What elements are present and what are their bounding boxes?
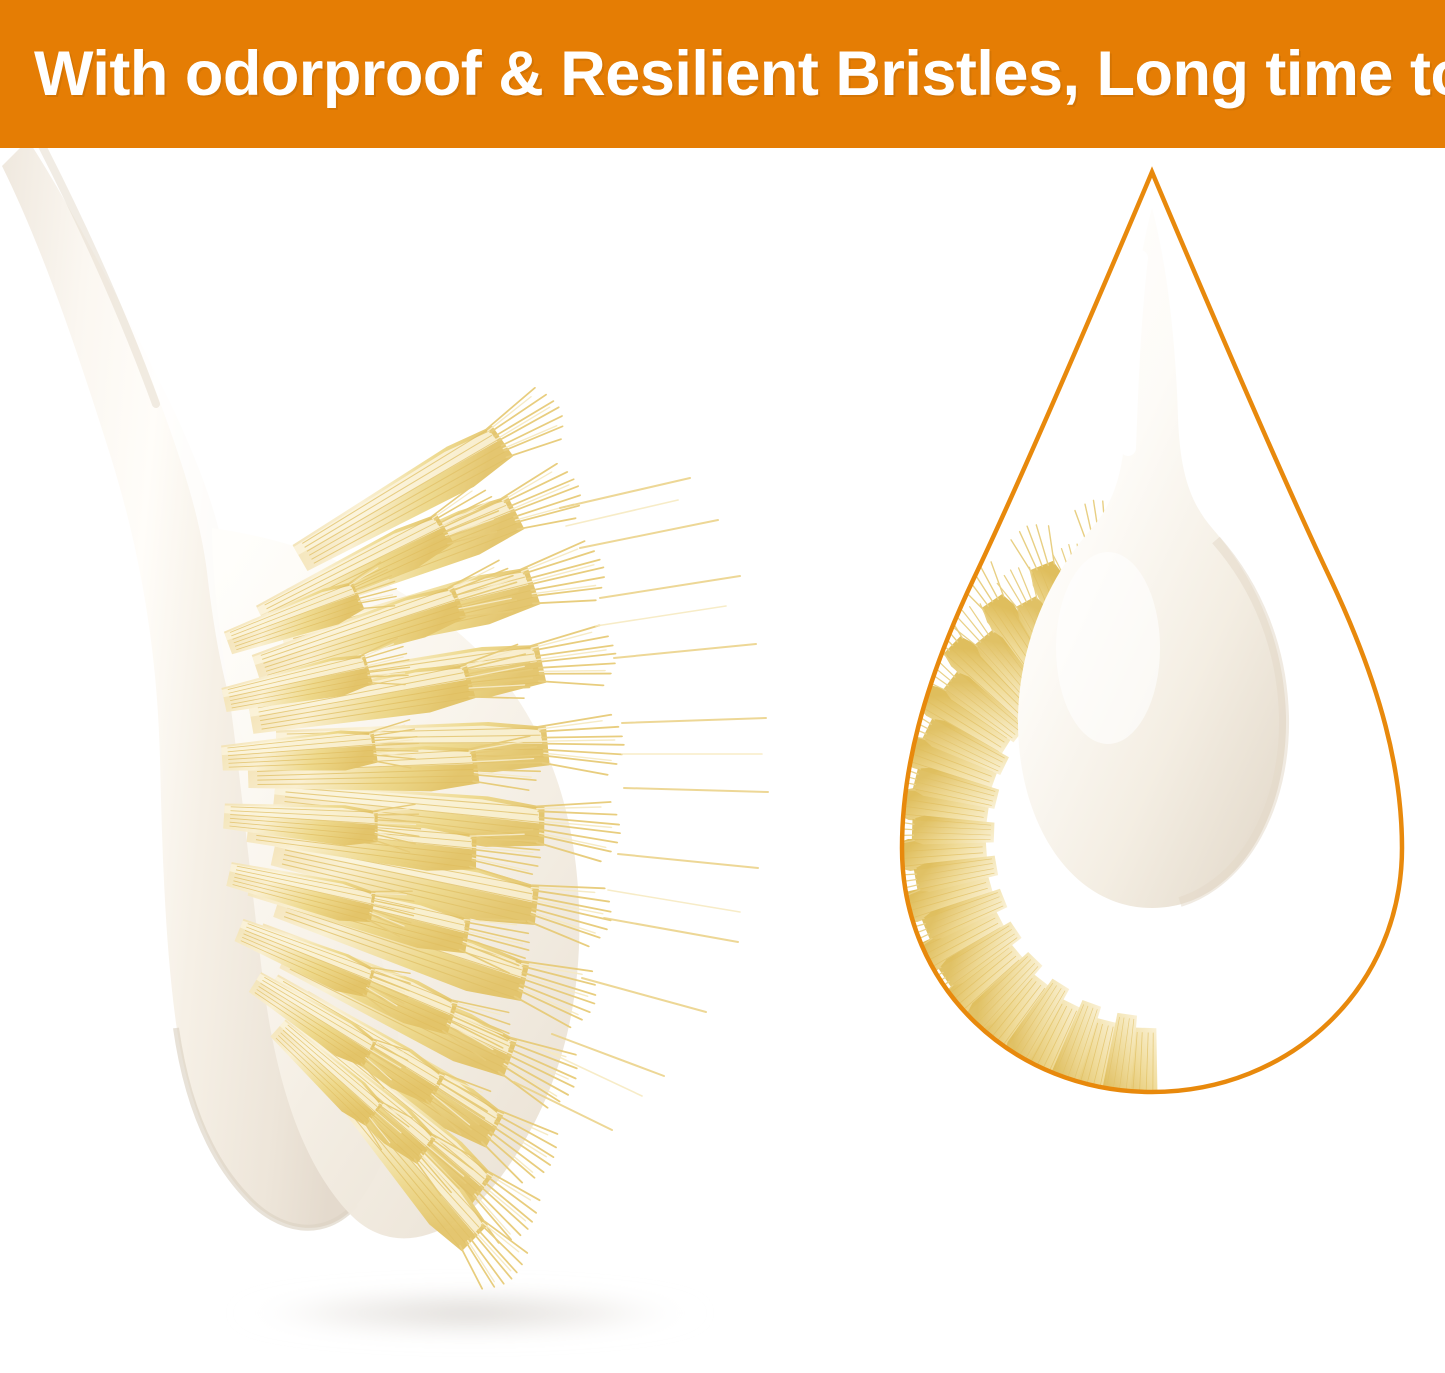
headline-text: With odorproof & Resilient Bristles, Lon… [34, 43, 1445, 106]
product-feature-image: With odorproof & Resilient Bristles, Lon… [0, 0, 1445, 1373]
detail-callout [0, 148, 1445, 1373]
headline-banner: With odorproof & Resilient Bristles, Lon… [0, 0, 1445, 148]
detail-brush-body [1018, 208, 1286, 908]
product-photo-area [0, 148, 1445, 1373]
